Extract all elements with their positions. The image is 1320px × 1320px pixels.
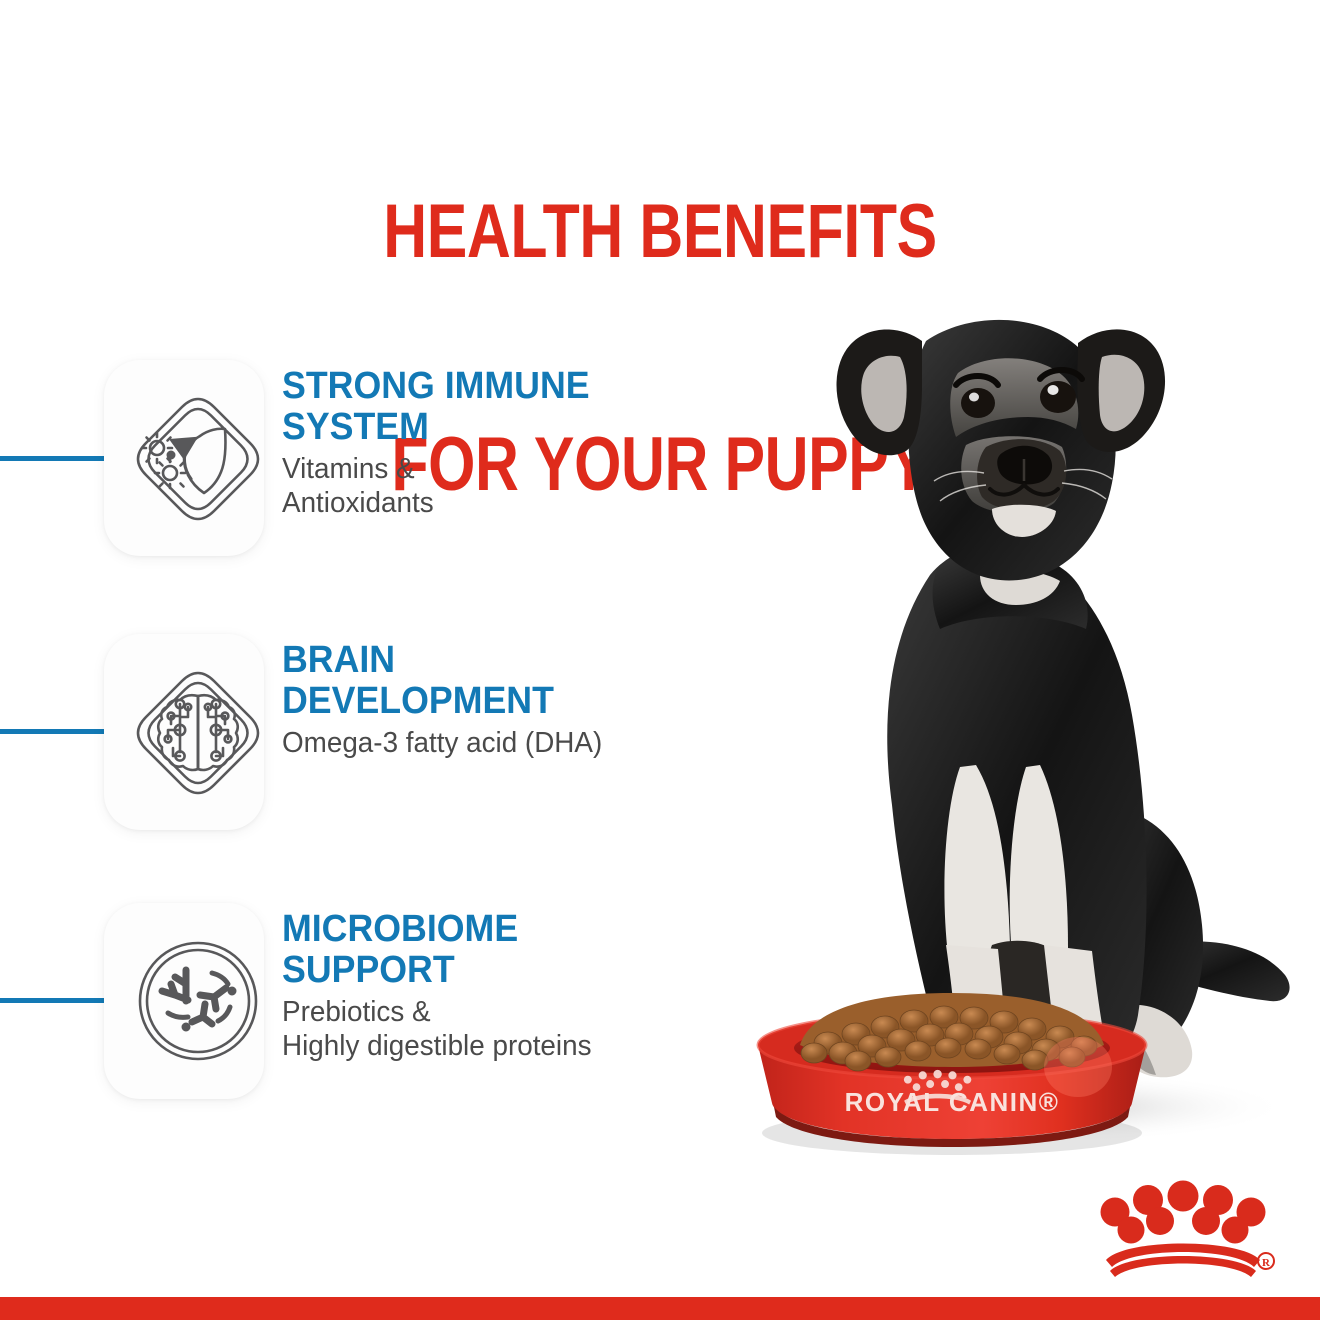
benefit-subtitle: Omega-3 fatty acid (DHA) xyxy=(282,727,685,761)
benefit-text-block: STRONG IMMUNE SYSTEM Vitamins & Antioxid… xyxy=(282,366,702,521)
benefit-item-brain: BRAIN DEVELOPMENT Omega-3 fatty acid (DH… xyxy=(104,634,704,834)
bowl-wordmark: ROYAL CANIN® xyxy=(845,1087,1060,1117)
benefit-text-block: BRAIN DEVELOPMENT Omega-3 fatty acid (DH… xyxy=(282,640,702,761)
brain-circuit-icon xyxy=(126,660,271,805)
bottom-red-bar xyxy=(0,1297,1320,1320)
connector-line-2 xyxy=(0,729,104,734)
benefit-item-microbiome: MICROBIOME SUPPORT Prebiotics & Highly d… xyxy=(104,903,704,1103)
connector-line-3 xyxy=(0,998,104,1003)
benefit-title: MICROBIOME SUPPORT xyxy=(282,909,677,990)
svg-text:R: R xyxy=(1262,1257,1271,1269)
connector-line-1 xyxy=(0,456,104,461)
benefit-text-block: MICROBIOME SUPPORT Prebiotics & Highly d… xyxy=(282,909,702,1064)
benefit-subtitle: Vitamins & Antioxidants xyxy=(282,453,685,521)
puppy-with-bowl-photo: ROYAL CANIN® xyxy=(740,245,1320,1175)
royal-canin-crown-logo: R xyxy=(1088,1178,1278,1278)
registered-mark-icon: R xyxy=(1258,1253,1274,1269)
benefit-item-immune: STRONG IMMUNE SYSTEM Vitamins & Antioxid… xyxy=(104,360,704,560)
microbiome-bacteria-icon xyxy=(126,929,271,1074)
benefit-title: STRONG IMMUNE SYSTEM xyxy=(282,366,677,447)
health-benefits-poster: HEALTH BENEFITS FOR YOUR PUPPY xyxy=(0,0,1320,1320)
benefit-title: BRAIN DEVELOPMENT xyxy=(282,640,677,721)
benefit-subtitle: Prebiotics & Highly digestible proteins xyxy=(282,996,685,1064)
immune-shield-icon xyxy=(126,386,271,531)
